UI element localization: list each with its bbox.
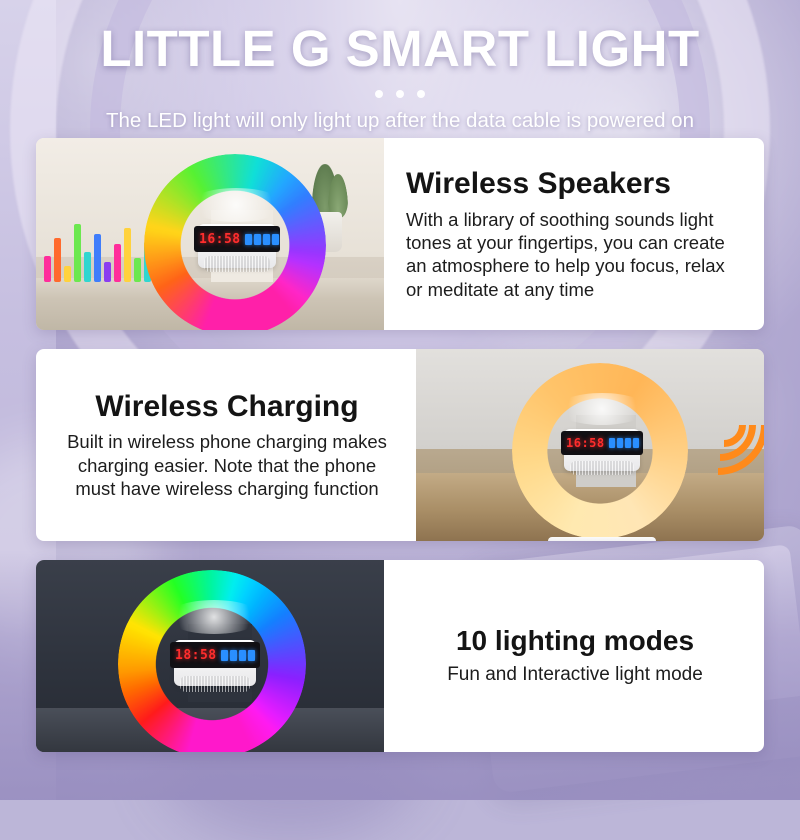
page-subtitle: The LED light will only light up after t…	[0, 109, 800, 133]
display-time: 16:58	[566, 436, 605, 450]
lamp-display: 18:58	[170, 642, 260, 668]
card-text-wireless-speakers: Wireless Speakers With a library of soot…	[384, 138, 764, 330]
card-text-wireless-charging: Wireless Charging Built in wireless phon…	[36, 349, 416, 541]
page-title: LITTLE G SMART LIGHT	[0, 22, 800, 76]
card-text-lighting-modes: 10 lighting modes Fun and Interactive li…	[384, 560, 764, 752]
speaker-grill	[204, 256, 270, 272]
product-photo-warm-lamp: 16:58	[416, 349, 764, 541]
speaker-grill	[570, 461, 634, 475]
card-title: Wireless Charging	[95, 390, 358, 424]
product-photo-rainbow-lamp: 16:58	[36, 138, 384, 330]
separator-dot	[375, 90, 383, 98]
speaker-grill	[180, 676, 250, 692]
feature-card-lighting-modes: 18:58 10 lighting modes Fun and Interact…	[36, 560, 764, 752]
card-body: With a library of soothing sounds light …	[406, 208, 744, 301]
card-title: 10 lighting modes	[456, 625, 694, 656]
card-body: Built in wireless phone charging makes c…	[58, 430, 396, 500]
lamp-display: 16:58	[194, 226, 280, 252]
card-body: Fun and Interactive light mode	[447, 663, 703, 687]
dot-separator	[0, 90, 800, 98]
display-time: 18:58	[175, 648, 217, 663]
product-photo-dark-lamp: 18:58	[36, 560, 384, 752]
feature-card-wireless-charging: 16:58 Wireless Charging Built in w	[36, 349, 764, 541]
display-time: 16:58	[199, 232, 241, 247]
lamp-display: 16:58	[561, 431, 643, 455]
scene-table: 16:58	[416, 349, 764, 541]
feature-card-list: 16:58 Wireless Speakers With a library o…	[36, 138, 764, 771]
lamp-base	[548, 537, 656, 541]
display-indicator-blocks	[245, 234, 279, 245]
wireless-charging-pad	[188, 188, 284, 222]
separator-dot	[396, 90, 404, 98]
wireless-charging-pad	[556, 393, 648, 425]
scene-dark: 18:58	[36, 560, 384, 752]
scene-desk: 16:58	[36, 138, 384, 330]
wireless-charging-pad	[166, 600, 262, 634]
card-title: Wireless Speakers	[406, 167, 744, 201]
display-indicator-blocks	[609, 438, 639, 448]
header: LITTLE G SMART LIGHT The LED light will …	[0, 0, 800, 133]
display-indicator-blocks	[221, 650, 255, 661]
feature-card-wireless-speakers: 16:58 Wireless Speakers With a library o…	[36, 138, 764, 330]
separator-dot	[417, 90, 425, 98]
